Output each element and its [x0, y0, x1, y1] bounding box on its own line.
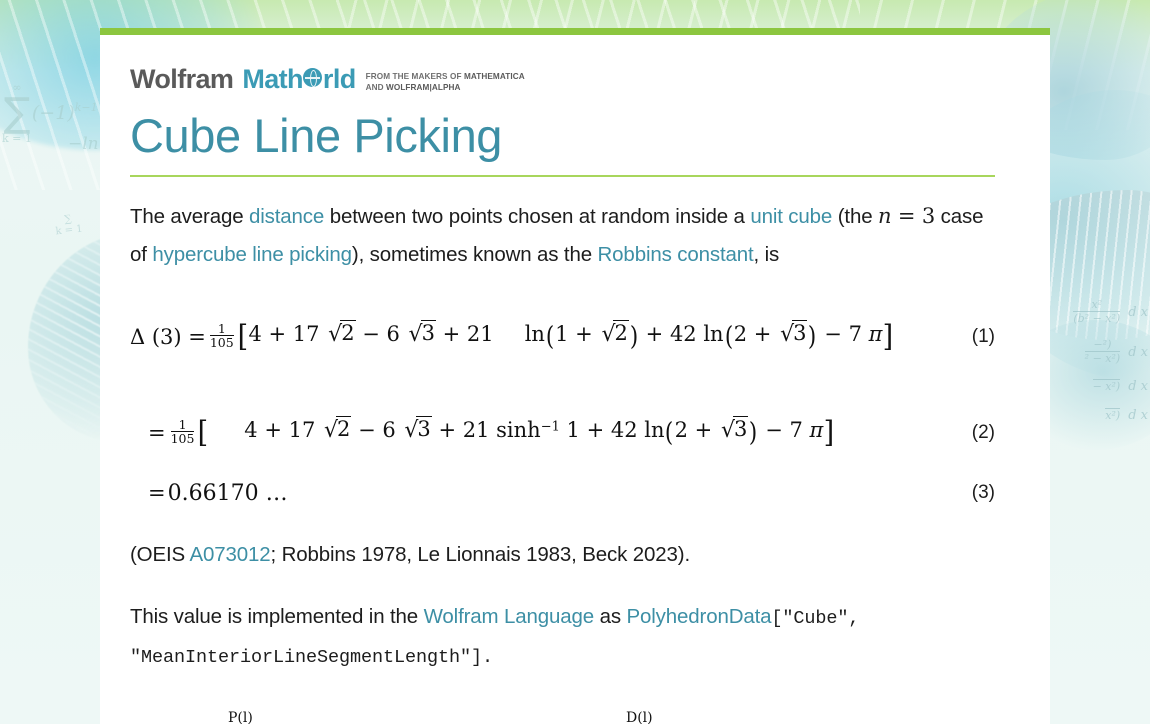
background-integral-row: x²) d x [1070, 409, 1148, 423]
equation-block-2: = 1 105 [ 4 + 17 √2 − 6 √3 + 21 sinh−1 1… [130, 391, 995, 475]
logo-world-text: rld [323, 64, 356, 95]
equation-2-rhs: 1 105 [ 4 + 17 √2 − 6 √3 + 21 sinh−1 1 +… [168, 415, 835, 450]
logo-tagline: FROM THE MAKERS OF MATHEMATICA AND WOLFR… [366, 72, 525, 94]
link-wolfram-language[interactable]: Wolfram Language [424, 605, 594, 628]
intro-text-6: , is [754, 243, 780, 266]
page-title: Cube Line Picking [130, 109, 995, 163]
sqrt-2-icon: √2 [326, 321, 355, 347]
equation-3-number: (3) [972, 482, 995, 504]
background-integral-dx: d x [1128, 409, 1148, 422]
content-card: Wolfram Mathrld FROM THE MAKERS OF MATHE… [100, 28, 1050, 724]
background-integral-denominator: − x²) [1093, 379, 1121, 393]
figures-row: P(l) 1.4 1.2 [130, 698, 995, 724]
equation-2-frac-numerator: 1 [171, 418, 195, 431]
background-integral-numerator: −²) [1085, 339, 1121, 351]
figure-probability-density: P(l) 1.4 1.2 [150, 698, 540, 724]
equation-2-close-bracket: ] [824, 415, 835, 450]
background-integral-denominator: x²) [1105, 408, 1120, 422]
equation-1-line-1: 1 105 [4 + 17 √2 − 6 √3 + 21 [207, 326, 499, 345]
equation-2-number: (2) [972, 422, 995, 444]
background-sum-lower-limit: k = 1 [2, 133, 32, 144]
background-formula-summation: ∞ ∑ k = 1 (−1)k−1 −ln [2, 82, 98, 144]
equation-2-fraction: 1 105 [171, 418, 195, 445]
background-integral-row: −²) ² − x²) d x [1070, 340, 1148, 365]
background-integral-numerator: x² [1073, 299, 1120, 311]
background-integral-denominator: ² − x²) [1085, 351, 1121, 365]
intro-math-n: n [878, 204, 891, 228]
sqrt-3-icon: √3 [719, 417, 748, 443]
impl-code-1: ["Cube", [771, 608, 859, 629]
impl-code-2: "MeanInteriorLineSegmentLength"]. [130, 647, 493, 668]
equation-block-1: Δ (3) = 1 105 [4 + 17 √2 − 6 √3 + 21 ln(… [130, 295, 995, 379]
oeis-paragraph: (OEIS A073012; Robbins 1978, Le Lionnais… [130, 536, 995, 575]
background-integral-denominator: (b² − x²) [1073, 311, 1120, 325]
background-integral-stack: x² (b² − x²) d x −²) ² − x²) d x − x²) d… [1070, 300, 1148, 437]
site-logo[interactable]: Wolfram Mathrld FROM THE MAKERS OF MATHE… [130, 64, 995, 103]
figure-1-plot-svg [150, 698, 540, 724]
equation-1-number: (1) [972, 326, 995, 348]
intro-paragraph: The average distance between two points … [130, 197, 995, 275]
tagline-line1-prefix: FROM THE MAKERS OF [366, 72, 464, 81]
tagline-line2-prefix: AND [366, 83, 386, 92]
intro-text-2: between two points chosen at random insi… [324, 205, 750, 228]
link-unit-cube[interactable]: unit cube [750, 205, 832, 228]
equation-3: = 0.66170 … (3) [130, 481, 995, 506]
equation-1-line-2: ln(1 + √2) + 42 ln(2 + √3) − 7 π] [499, 326, 894, 345]
link-distance[interactable]: distance [249, 205, 324, 228]
equation-2: = 1 105 [ 4 + 17 √2 − 6 √3 + 21 sinh−1 1… [130, 391, 995, 475]
impl-text-2: as [594, 605, 626, 628]
implementation-paragraph: This value is implemented in the Wolfram… [130, 598, 995, 676]
figure-1-ylabel: P(l) [228, 710, 253, 724]
sqrt-3-icon: √3 [778, 321, 807, 347]
equation-2-line-1: 1 105 [ [168, 422, 215, 441]
equation-1: Δ (3) = 1 105 [4 + 17 √2 − 6 √3 + 21 ln(… [130, 295, 995, 379]
background-integral-row: − x²) d x [1070, 380, 1148, 394]
sqrt-3-icon: √3 [402, 417, 431, 443]
link-oeis-a073012[interactable]: A073012 [189, 543, 270, 566]
oeis-text-1: (OEIS [130, 543, 189, 566]
link-polyhedrondata[interactable]: PolyhedronData [627, 605, 772, 628]
link-hypercube-line-picking[interactable]: hypercube line picking [152, 243, 352, 266]
impl-text-1: This value is implemented in the [130, 605, 424, 628]
background-sum-exponent: k−1 [75, 101, 98, 114]
equation-1-lhs: Δ (3) = [130, 325, 206, 349]
equation-1-open-bracket: [ [237, 319, 248, 354]
tagline-line2-brand: WOLFRAM|ALPHA [386, 83, 461, 92]
background-integral-dx: d x [1128, 306, 1148, 319]
background-sum-sigma-icon: ∑ [2, 93, 32, 133]
globe-icon [303, 68, 322, 87]
background-small-sum-limit: k = 1 [55, 223, 83, 237]
logo-mathworld-text: Mathrld [242, 64, 355, 95]
figure-distribution-function: D(l) 1.0 [576, 698, 966, 724]
background-formula-small-sum: ∑ k = 1 [54, 214, 83, 238]
logo-math-text: Math [242, 64, 303, 95]
equation-1-fraction: 1 105 [210, 322, 234, 349]
tagline-line2: AND WOLFRAM|ALPHA [366, 83, 461, 92]
intro-text-1: The average [130, 205, 249, 228]
sqrt-3-icon: √3 [407, 321, 436, 347]
equation-1-frac-denominator: 105 [210, 335, 234, 349]
background-integral-dx: d x [1128, 380, 1148, 393]
sqrt-2-icon: √2 [599, 321, 628, 347]
equation-2-frac-denominator: 105 [171, 431, 195, 445]
equation-1-close-bracket: ] [883, 319, 894, 354]
article-body: The average distance between two points … [130, 177, 995, 724]
equation-1-frac-numerator: 1 [210, 322, 234, 335]
equation-3-value: 0.66170 … [168, 481, 288, 506]
intro-math-eq: = 3 [891, 204, 935, 228]
equation-2-line-2: 4 + 17 √2 − 6 √3 + 21 sinh−1 1 + 42 ln(2… [214, 422, 835, 441]
equation-2-lhs: = [148, 421, 166, 445]
equation-3-lhs: = [148, 481, 166, 505]
background-integral-dx: d x [1128, 346, 1148, 359]
background-integral-row: x² (b² − x²) d x [1070, 300, 1148, 325]
figure-2-ylabel: D(l) [626, 710, 653, 724]
equation-block-3: = 0.66170 … (3) [130, 481, 995, 506]
equation-2-open-bracket: [ [198, 415, 209, 450]
intro-text-3: (the [832, 205, 878, 228]
equation-1-rhs: 1 105 [4 + 17 √2 − 6 √3 + 21 ln(1 + √2) … [207, 319, 894, 354]
tagline-line1-brand: MATHEMATICA [464, 72, 525, 81]
background-ln-term: −ln [68, 134, 99, 154]
tagline-line1: FROM THE MAKERS OF MATHEMATICA [366, 72, 525, 81]
logo-wolfram-text: Wolfram [130, 64, 233, 95]
intro-text-5: ), sometimes known as the [352, 243, 598, 266]
background-sum-term: (−1) [32, 102, 75, 124]
sqrt-2-icon: √2 [322, 417, 351, 443]
oeis-text-2: ; Robbins 1978, Le Lionnais 1983, Beck 2… [271, 543, 691, 566]
link-robbins-constant[interactable]: Robbins constant [598, 243, 754, 266]
